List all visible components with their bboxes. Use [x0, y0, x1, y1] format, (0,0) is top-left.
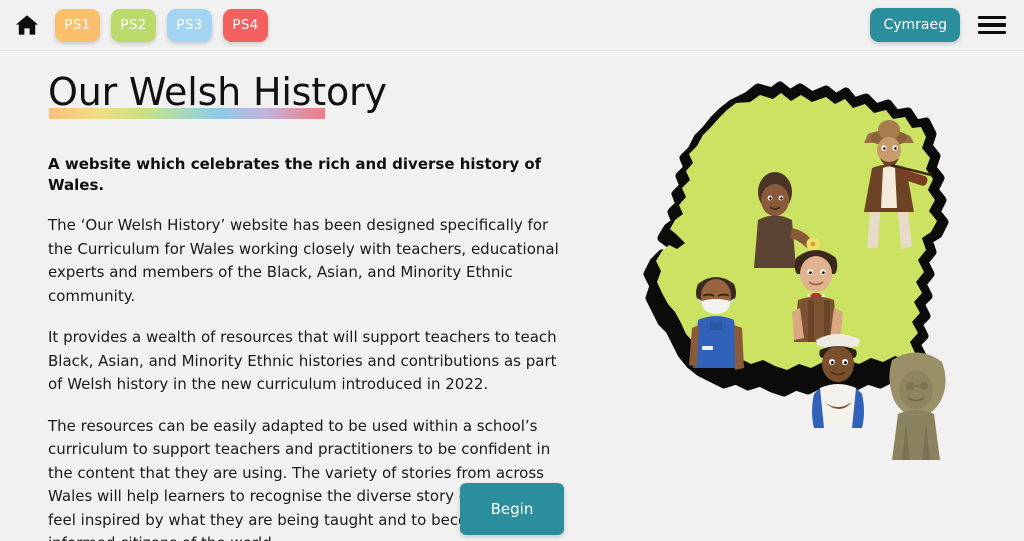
hamburger-bar: [978, 23, 1006, 27]
begin-button[interactable]: Begin: [460, 483, 564, 535]
nav-pill-ps3[interactable]: PS3: [167, 9, 212, 42]
character-bronze-statue: [889, 352, 945, 460]
header-right-group: Cymraeg: [870, 8, 1008, 42]
intro-lede: A website which celebrates the rich and …: [48, 154, 568, 196]
hamburger-bar: [978, 16, 1006, 20]
nav-pill-ps4[interactable]: PS4: [223, 9, 268, 42]
title-gradient-underline: [49, 108, 325, 119]
home-icon[interactable]: [14, 12, 40, 38]
hamburger-bar: [978, 31, 1006, 35]
hamburger-menu-icon[interactable]: [978, 14, 1006, 36]
body-paragraph-1: The ‘Our Welsh History’ website has been…: [48, 214, 568, 308]
main-content: Our Welsh History A website which celebr…: [48, 70, 568, 541]
wales-map-illustration: [640, 72, 1000, 462]
nav-pill-ps2[interactable]: PS2: [111, 9, 156, 42]
phase-nav: PS1 PS2 PS3 PS4: [55, 9, 268, 42]
page-root: PS1 PS2 PS3 PS4 Cymraeg Our Welsh Histor…: [0, 0, 1024, 541]
nav-pill-ps1[interactable]: PS1: [55, 9, 100, 42]
site-header: PS1 PS2 PS3 PS4 Cymraeg: [0, 0, 1024, 51]
body-paragraph-2: It provides a wealth of resources that w…: [48, 326, 568, 397]
language-toggle-button[interactable]: Cymraeg: [870, 8, 960, 42]
page-title-wrap: Our Welsh History: [48, 70, 387, 114]
